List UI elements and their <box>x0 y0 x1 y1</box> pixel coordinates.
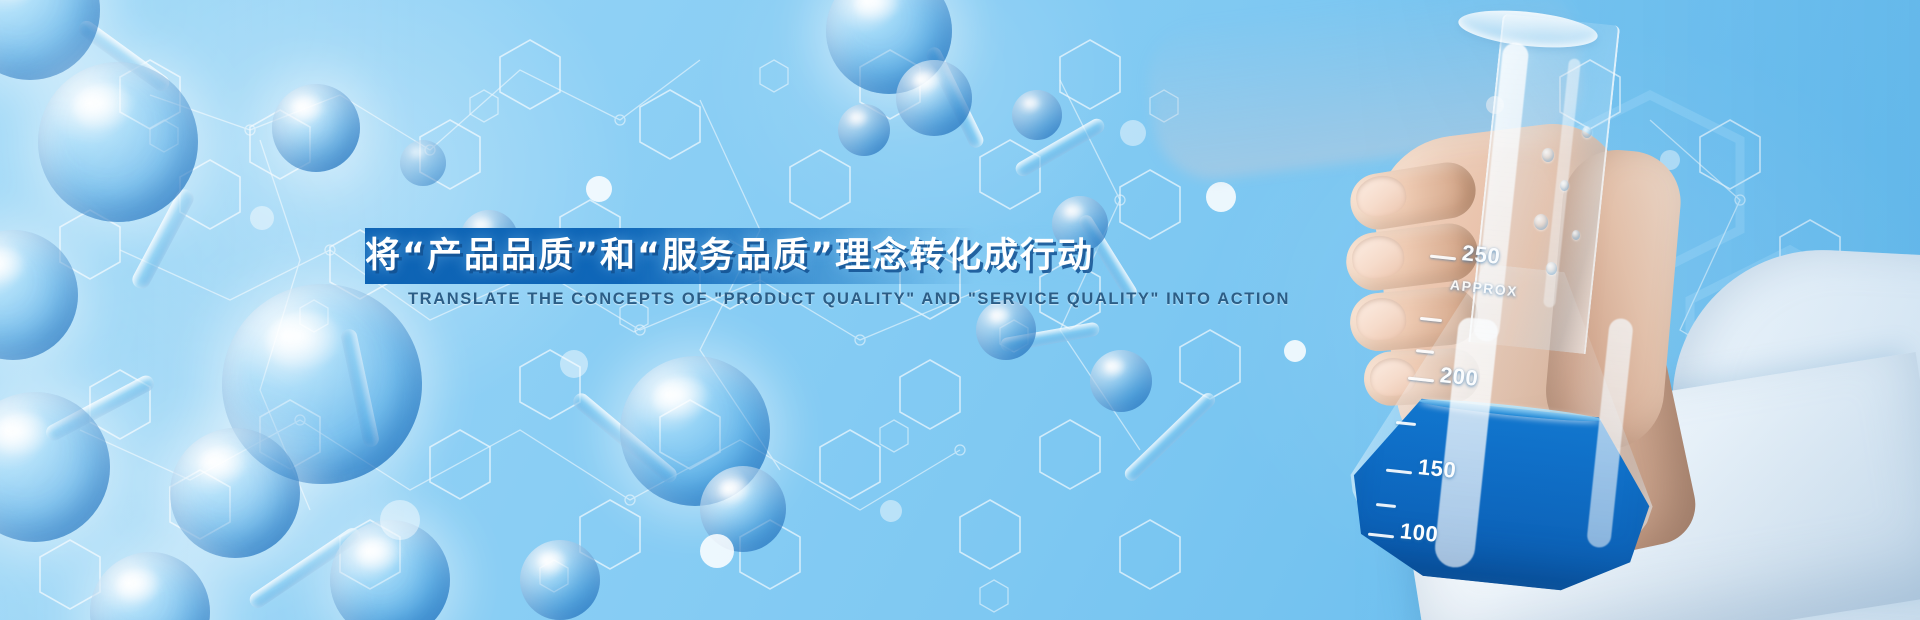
hand-holding-flask-photo: 250 APPROX 200 150 100 <box>1150 0 1920 620</box>
water-droplet <box>1572 230 1580 240</box>
water-droplet <box>1542 148 1554 162</box>
page-subtitle: TRANSLATE THE CONCEPTS OF "PRODUCT QUALI… <box>408 290 1290 309</box>
flask-graduation-200: 200 <box>1439 362 1480 392</box>
erlenmeyer-flask: 250 APPROX 200 150 100 <box>1346 18 1706 578</box>
water-droplet <box>1560 180 1569 191</box>
flask-graduation-250: 250 <box>1461 240 1502 270</box>
water-droplet <box>1546 262 1557 275</box>
water-droplet <box>1582 126 1592 138</box>
flask-tick <box>1416 349 1434 354</box>
flask-tick <box>1420 317 1442 322</box>
flask-tick <box>1430 255 1456 261</box>
page-title: 将“产品品质”和“服务品质”理念转化成行动 <box>365 228 1094 284</box>
flask-graduation-150: 150 <box>1417 454 1458 484</box>
water-droplet <box>1534 214 1548 230</box>
flask-graduation-100: 100 <box>1399 518 1440 548</box>
hero-banner: 250 APPROX 200 150 100 将“产品品质”和“服务品质”理念转… <box>0 0 1920 620</box>
